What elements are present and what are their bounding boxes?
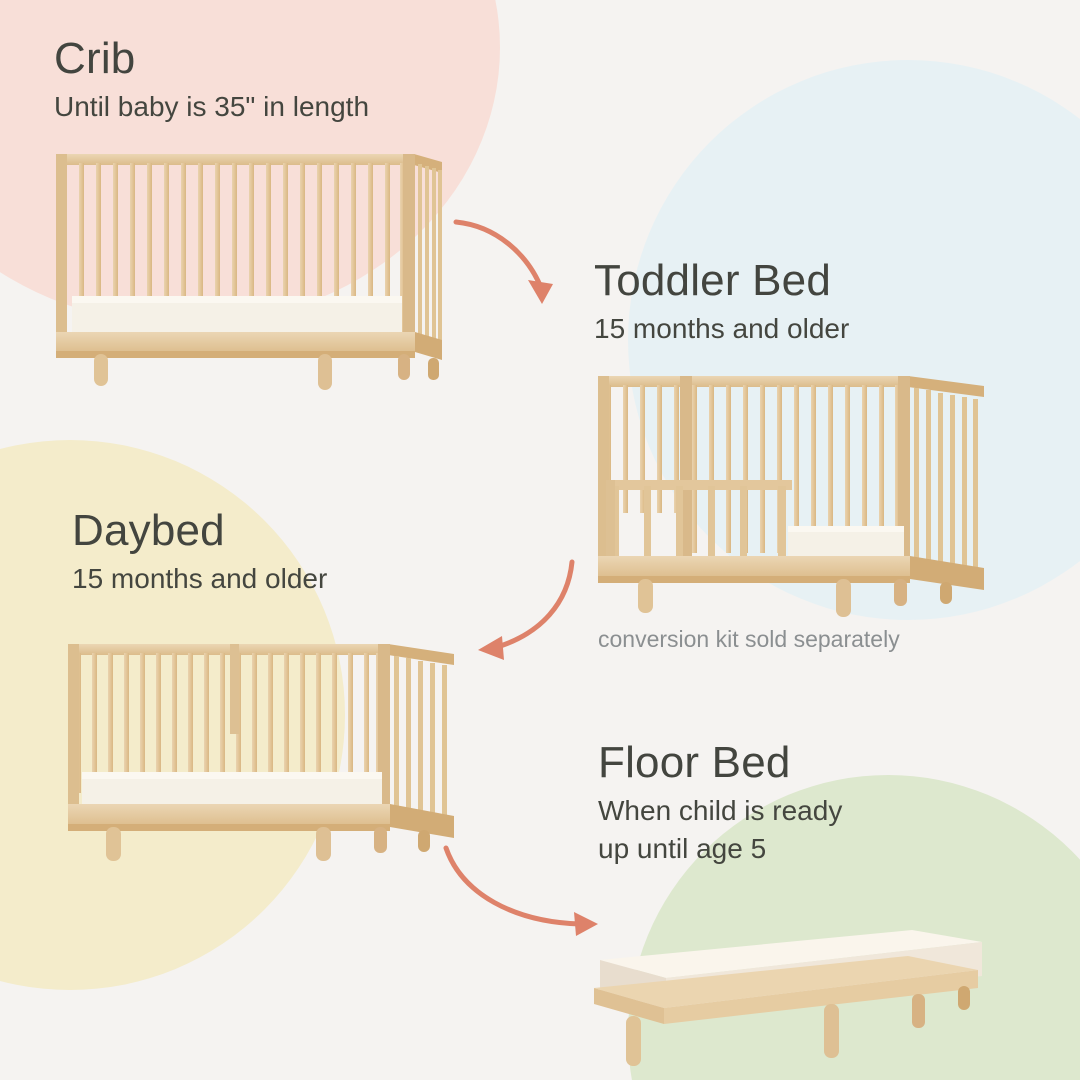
stage-crib-text: Crib Until baby is 35" in length — [54, 36, 369, 126]
daybed-subtitle: 15 months and older — [72, 560, 327, 598]
toddler-bed-subtitle: 15 months and older — [594, 310, 849, 348]
stage-toddler-text: Toddler Bed 15 months and older — [594, 258, 849, 348]
arrow-crib-to-toddler — [452, 214, 572, 329]
toddler-bed-illustration — [592, 368, 984, 618]
crib-subtitle: Until baby is 35" in length — [54, 88, 369, 126]
daybed-title: Daybed — [72, 508, 327, 554]
floor-bed-subtitle-line2: up until age 5 — [598, 830, 842, 868]
toddler-bed-title: Toddler Bed — [594, 258, 849, 304]
floor-bed-illustration — [586, 912, 986, 1080]
infographic-canvas: Crib Until baby is 35" in length — [0, 0, 1080, 1080]
floor-bed-subtitle-line1: When child is ready — [598, 792, 842, 830]
stage-floor-bed-text: Floor Bed When child is ready up until a… — [598, 740, 842, 867]
arrow-toddler-to-daybed — [460, 556, 580, 671]
crib-illustration — [50, 146, 442, 390]
toddler-bed-note: conversion kit sold separately — [598, 626, 900, 653]
floor-bed-title: Floor Bed — [598, 740, 842, 786]
crib-title: Crib — [54, 36, 369, 82]
stage-daybed-text: Daybed 15 months and older — [72, 508, 327, 598]
daybed-illustration — [62, 636, 454, 862]
